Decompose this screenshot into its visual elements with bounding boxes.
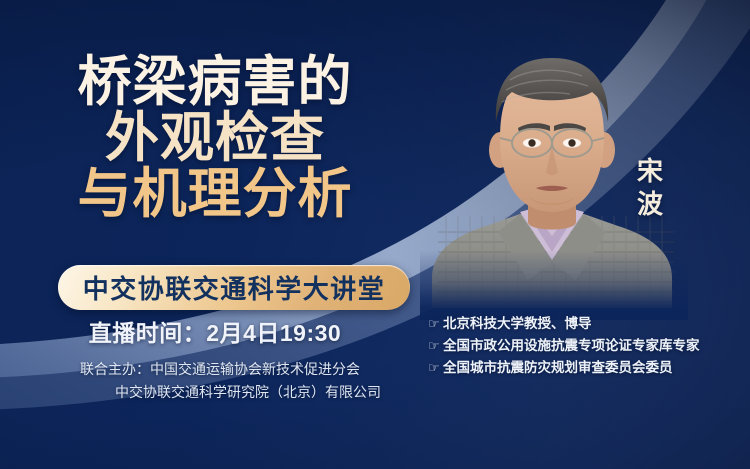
credential-row: ☞ 全国城市抗震防灾规划审查委员会委员 — [428, 357, 700, 379]
pointing-hand-icon: ☞ — [428, 357, 442, 378]
pointing-hand-icon: ☞ — [428, 313, 442, 334]
portrait-fade-overlay — [420, 250, 688, 320]
speaker-name: 宋 波 — [630, 155, 670, 222]
poster-title: 桥梁病害的 外观检查 与机理分析 — [0, 55, 430, 223]
organizers: 联合主办：中国交通运输协会新技术促进分会 中交协联交通科学研究院（北京）有限公司 — [0, 358, 440, 403]
credential-text-1: 北京科技大学教授、博导 — [443, 313, 592, 335]
credential-text-2: 全国市政公用设施抗震专项论证专家库专家 — [443, 335, 700, 357]
title-line-3: 与机理分析 — [0, 167, 430, 221]
credential-row: ☞ 全国市政公用设施抗震专项论证专家库专家 — [428, 335, 700, 357]
title-line-2: 外观检查 — [0, 111, 430, 165]
pointing-hand-icon: ☞ — [428, 335, 442, 356]
credential-row: ☞ 北京科技大学教授、博导 — [428, 313, 700, 335]
credential-text-3: 全国城市抗震防灾规划审查委员会委员 — [443, 357, 673, 379]
title-line-1: 桥梁病害的 — [0, 55, 430, 109]
broadcast-time: 直播时间：2月4日19:30 — [0, 314, 430, 348]
speaker-name-char-1: 宋 — [630, 155, 670, 188]
speaker-credentials: ☞ 北京科技大学教授、博导 ☞ 全国市政公用设施抗震专项论证专家库专家 ☞ 全国… — [428, 313, 700, 379]
series-badge: 中交协联交通科学大讲堂 — [58, 265, 410, 310]
series-badge-label: 中交协联交通科学大讲堂 — [83, 269, 386, 306]
speaker-name-char-2: 波 — [630, 188, 670, 221]
webinar-poster: 桥梁病害的 外观检查 与机理分析 中交协联交通科学大讲堂 直播时间：2月4日19… — [0, 0, 750, 469]
organizer-line-1: 联合主办：中国交通运输协会新技术促进分会 — [0, 358, 440, 381]
organizer-line-2: 中交协联交通科学研究院（北京）有限公司 — [0, 381, 440, 404]
